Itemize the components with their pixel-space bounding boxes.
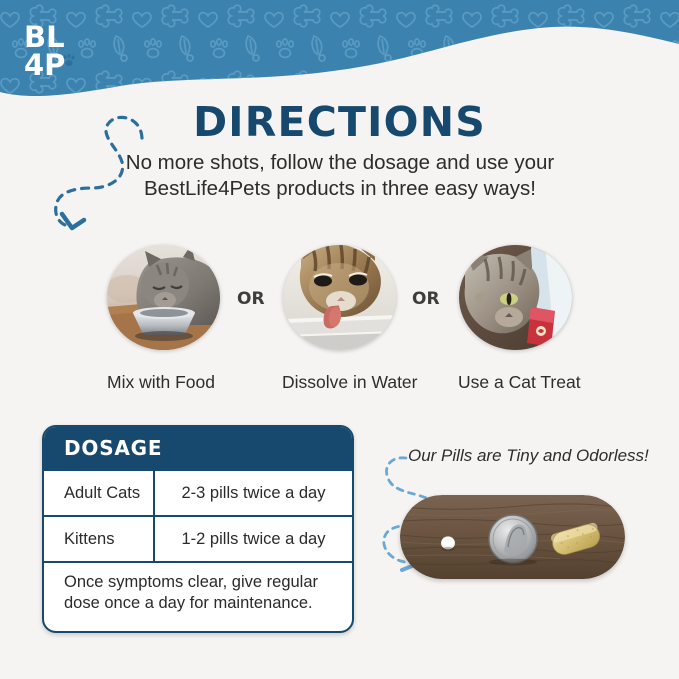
or-separator: OR [237,289,265,309]
method-label: Mix with Food [102,372,220,393]
tiny-white-pill [441,536,455,551]
dosage-group: Kittens [44,517,155,561]
brand-logo[interactable]: BL 4P [24,20,82,82]
directions-infographic: BL 4P DIRECTIONS No more shots, follow t… [0,0,679,679]
table-row: Adult Cats 2-3 pills twice a day [44,469,352,515]
table-row: Kittens 1-2 pills twice a day [44,515,352,561]
dosage-title: DOSAGE [64,436,162,460]
dosage-card: DOSAGE Adult Cats 2-3 pills twice a day … [42,425,354,633]
cat-with-treat-packet-photo [459,245,572,350]
method-item-use-a-cat-treat[interactable]: Use a Cat Treat [459,245,572,393]
page-subtitle: No more shots, follow the dosage and use… [120,150,560,202]
dosage-group: Adult Cats [44,471,155,515]
method-label: Use a Cat Treat [458,372,572,393]
dosage-note: Once symptoms clear, give regular dose o… [44,561,352,614]
or-separator: OR [412,289,440,309]
wooden-board-with-pill-dime-capsule-photo [400,495,625,579]
method-item-mix-with-food[interactable]: Mix with Food [107,245,220,393]
treat-packet [527,307,555,347]
logo-text-bottom: 4P [24,48,65,82]
dosage-amount: 2-3 pills twice a day [155,471,352,515]
cat-drinking-water-photo [283,245,396,350]
dashed-curved-arrow-icon [40,108,150,233]
method-label: Dissolve in Water [282,372,396,393]
cat-eating-from-bowl-photo [107,245,220,350]
dosage-header: DOSAGE [44,427,352,469]
dosage-amount: 1-2 pills twice a day [155,517,352,561]
method-item-dissolve-in-water[interactable]: Dissolve in Water [283,245,396,393]
